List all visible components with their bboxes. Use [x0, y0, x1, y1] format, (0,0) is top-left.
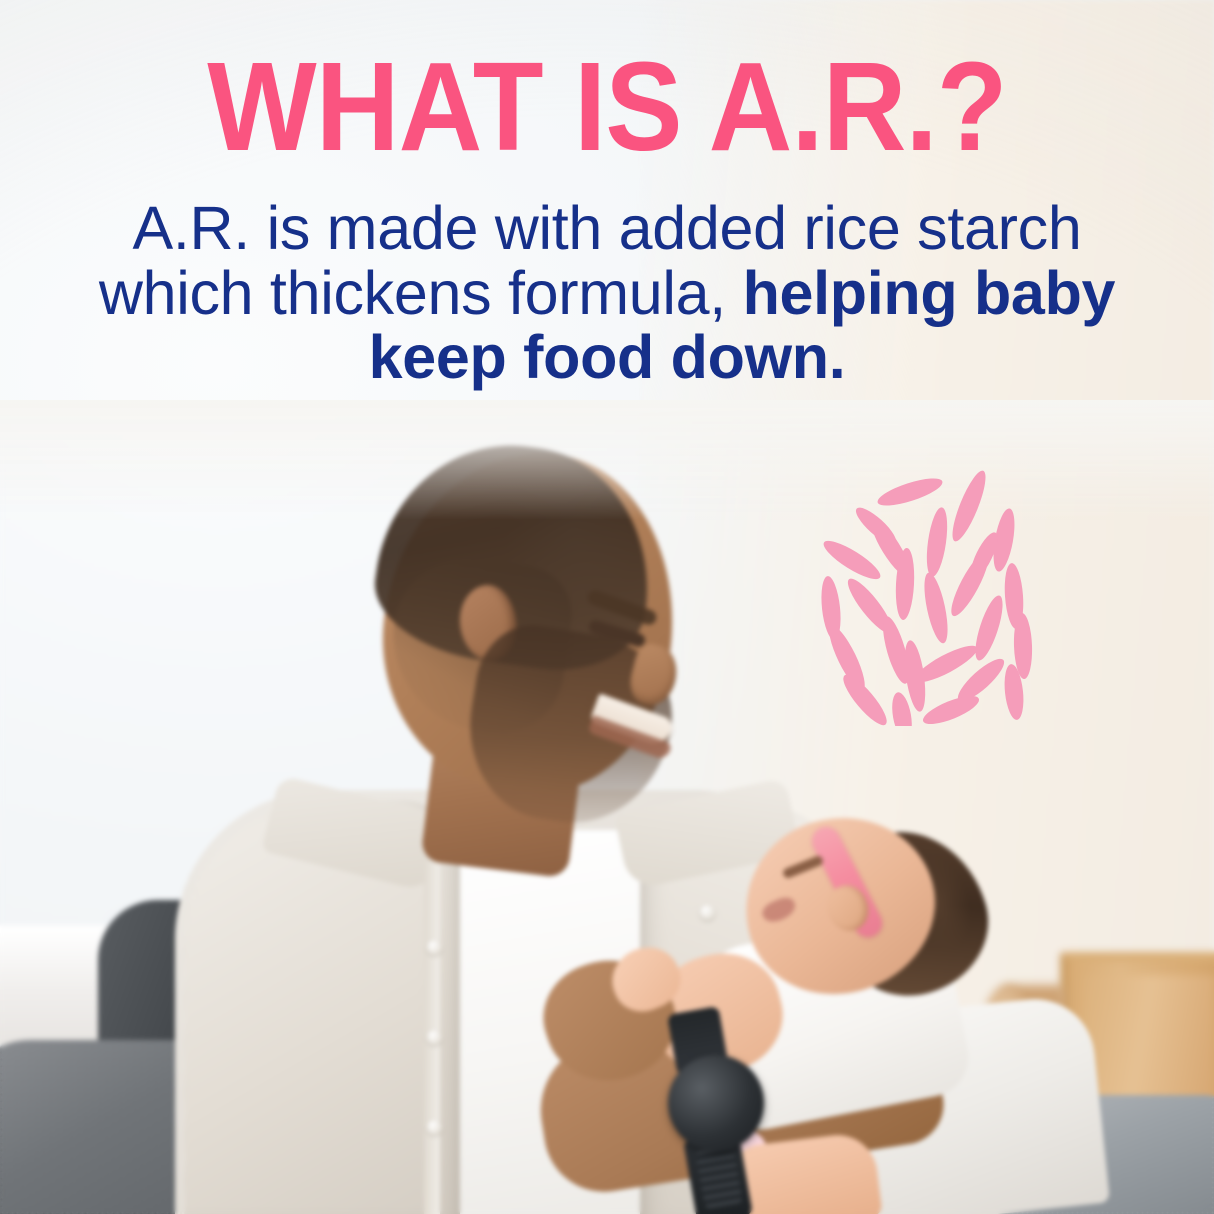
shirt-collar-button [700, 905, 715, 920]
shirt-button [427, 1120, 442, 1135]
shirt-button [427, 1030, 442, 1045]
body-copy: A.R. is made with added rice starch whic… [60, 196, 1154, 390]
page-title: WHAT IS A.R.? [49, 44, 1166, 170]
shirt-button [427, 940, 442, 955]
rice-grains-icon [818, 468, 1036, 726]
poster-canvas: WHAT IS A.R.? A.R. is made with added ri… [0, 0, 1214, 1214]
